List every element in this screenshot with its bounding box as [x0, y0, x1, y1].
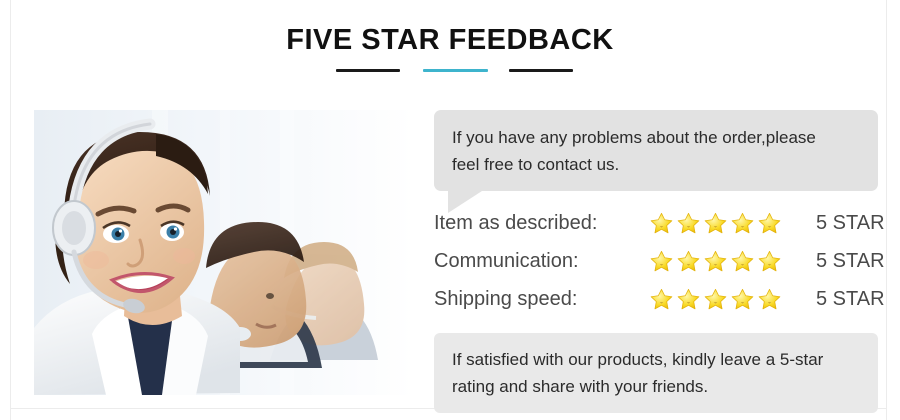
rating-value: 5 STAR	[794, 212, 885, 235]
star-icon	[676, 249, 701, 274]
divider-center	[423, 69, 488, 72]
rating-request-box: If satisfied with our products, kindly l…	[434, 333, 878, 413]
star-icon	[703, 249, 728, 274]
star-rating	[649, 287, 794, 312]
star-icon	[757, 211, 782, 236]
rating-request-line-2: rating and share with your friends.	[452, 373, 860, 400]
customer-service-photo	[34, 110, 414, 395]
contact-speech-bubble: If you have any problems about the order…	[434, 110, 878, 191]
star-icon	[703, 211, 728, 236]
title-divider-group	[336, 69, 561, 73]
divider-left	[336, 69, 400, 72]
rating-label: Communication:	[434, 250, 649, 273]
page-border-left	[10, 0, 11, 420]
rating-request-line-1: If satisfied with our products, kindly l…	[452, 346, 860, 373]
star-icon	[649, 287, 674, 312]
star-icon	[649, 249, 674, 274]
star-icon	[757, 287, 782, 312]
star-icon	[703, 287, 728, 312]
star-rating	[649, 211, 794, 236]
rating-row: Item as described: 5 STAR	[434, 204, 878, 242]
contact-bubble-line-1: If you have any problems about the order…	[452, 124, 860, 151]
rating-label: Shipping speed:	[434, 288, 649, 311]
star-rating	[649, 249, 794, 274]
page-title: FIVE STAR FEEDBACK	[0, 24, 900, 57]
star-icon	[676, 287, 701, 312]
star-icon	[757, 249, 782, 274]
rating-value: 5 STAR	[794, 250, 885, 273]
rating-row: Communication: 5 STAR	[434, 242, 878, 280]
star-icon	[730, 249, 755, 274]
rating-list: Item as described: 5 STAR Communication:	[434, 204, 878, 318]
rating-row: Shipping speed: 5 STAR	[434, 280, 878, 318]
star-icon	[676, 211, 701, 236]
star-icon	[649, 211, 674, 236]
star-icon	[730, 287, 755, 312]
divider-right	[509, 69, 573, 72]
feedback-banner: FIVE STAR FEEDBACK	[0, 0, 900, 420]
star-icon	[730, 211, 755, 236]
feedback-content: If you have any problems about the order…	[434, 110, 878, 395]
page-border-right	[886, 0, 887, 420]
rating-label: Item as described:	[434, 212, 649, 235]
contact-bubble-line-2: feel free to contact us.	[452, 151, 860, 178]
rating-value: 5 STAR	[794, 288, 885, 311]
